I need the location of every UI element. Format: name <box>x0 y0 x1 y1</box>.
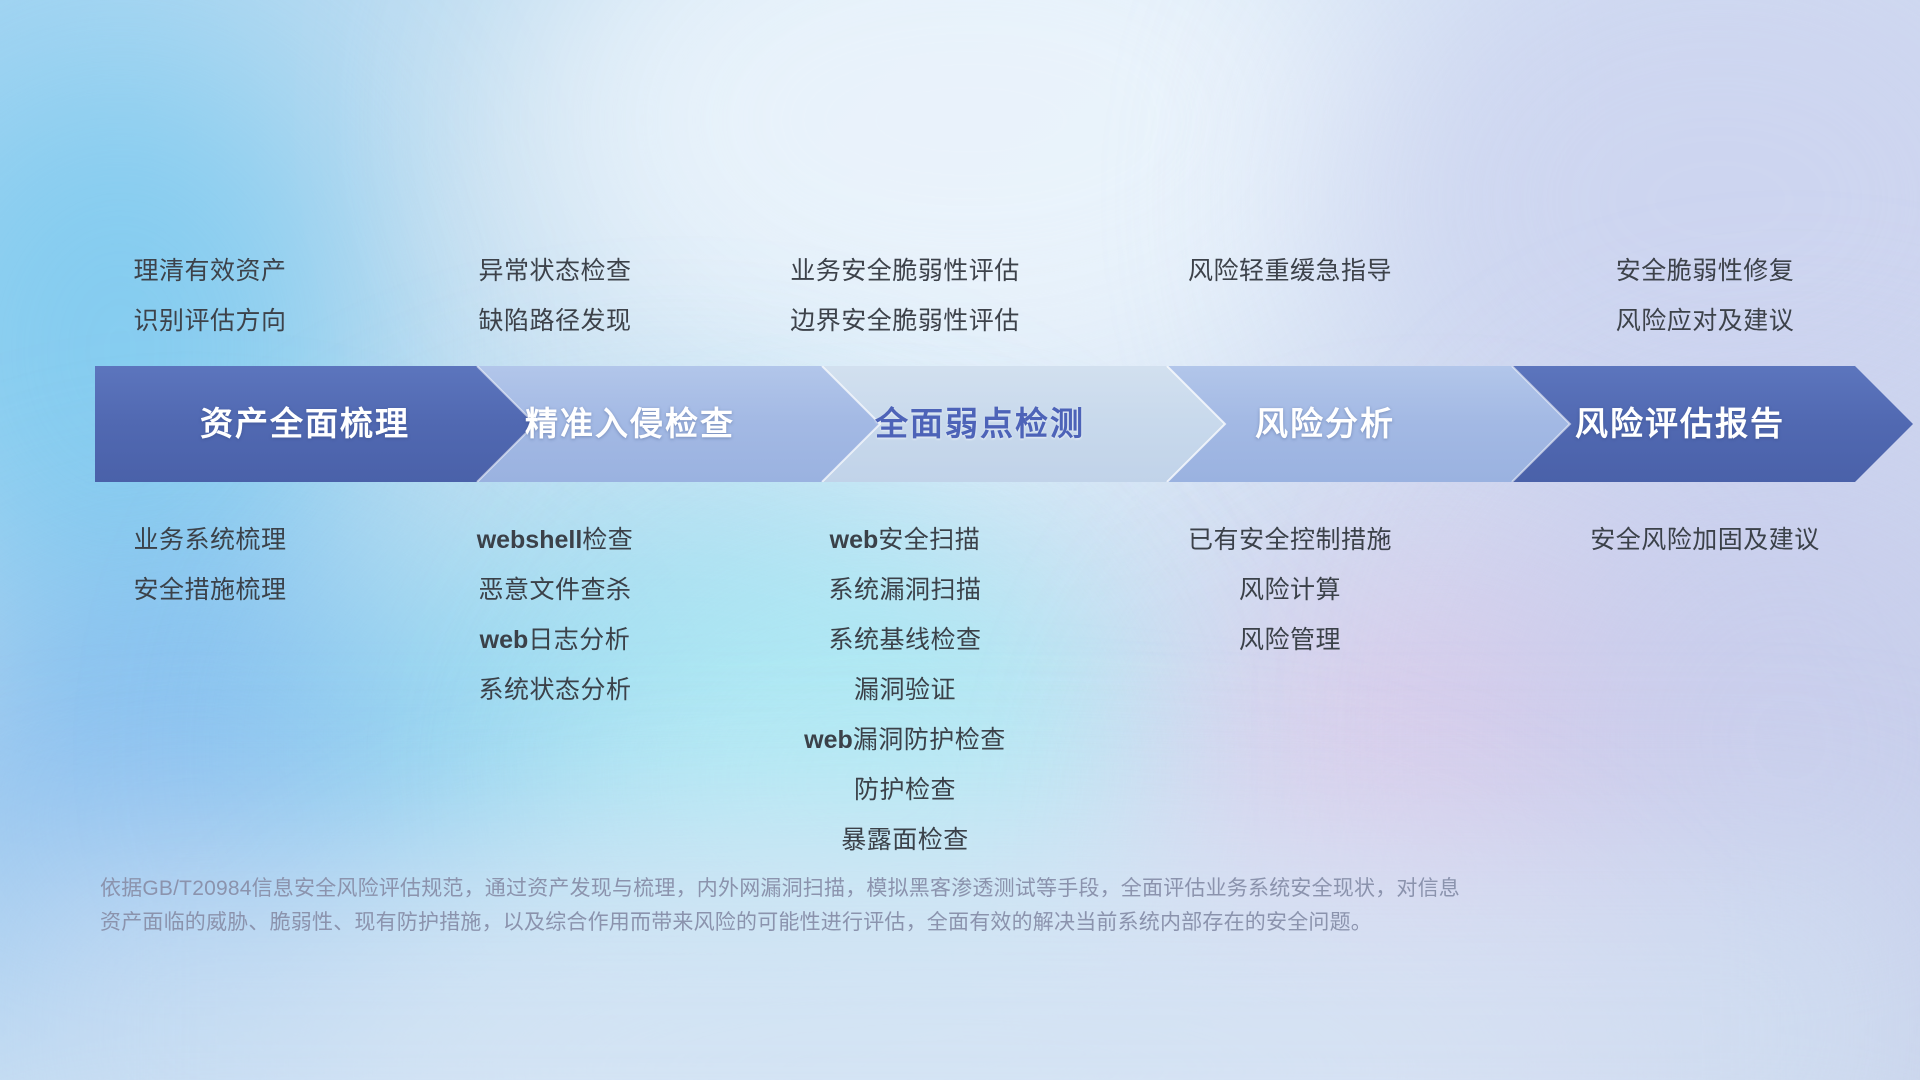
stage-4-bottom-note: 已有安全控制措施 <box>1070 515 1510 565</box>
stage-2-bottom-notes: webshell检查 恶意文件查杀 web日志分析 系统状态分析 <box>370 515 740 715</box>
stage-1-bottom-note: 安全措施梳理 <box>0 565 420 615</box>
footer-description: 依据GB/T20984信息安全风险评估规范，通过资产发现与梳理，内外网漏洞扫描，… <box>100 872 1720 940</box>
stage-3-bottom-note: 漏洞验证 <box>715 665 1095 715</box>
stage-3-top-notes: 业务安全脆弱性评估 边界安全脆弱性评估 <box>715 246 1095 346</box>
stage-4-bottom-note: 风险计算 <box>1070 565 1510 615</box>
stage-2-bottom-note: 系统状态分析 <box>370 665 740 715</box>
stage-2-bottom-note-latin: web <box>480 626 529 654</box>
arrow-stage-1 <box>95 366 535 482</box>
stage-3-bottom-note: web安全扫描 <box>715 515 1095 565</box>
stage-4-bottom-note: 风险管理 <box>1070 615 1510 665</box>
stage-4-top-note: 风险轻重缓急指导 <box>1070 246 1510 296</box>
process-arrow-band <box>0 366 1920 482</box>
stage-2-bottom-note: webshell检查 <box>370 515 740 565</box>
stage-3-bottom-note: 暴露面检查 <box>715 815 1095 865</box>
process-diagram: 理清有效资产 识别评估方向 异常状态检查 缺陷路径发现 业务安全脆弱性评估 边界… <box>0 0 1920 1080</box>
stage-2-bottom-note: web日志分析 <box>370 615 740 665</box>
stage-2-top-notes: 异常状态检查 缺陷路径发现 <box>370 246 740 346</box>
stage-2-bottom-note-cjk: 日志分析 <box>528 626 630 654</box>
stage-2-top-note: 缺陷路径发现 <box>370 296 740 346</box>
stage-3-bottom-note-latin: web <box>830 526 879 554</box>
stage-3-top-note: 业务安全脆弱性评估 <box>715 246 1095 296</box>
stage-3-bottom-note-latin: web <box>804 726 853 754</box>
stage-2-bottom-note: 恶意文件查杀 <box>370 565 740 615</box>
stage-3-bottom-note: web漏洞防护检查 <box>715 715 1095 765</box>
stage-1-top-note: 识别评估方向 <box>0 296 420 346</box>
stage-3-bottom-note-cjk: 漏洞防护检查 <box>853 726 1006 754</box>
stage-1-bottom-note: 业务系统梳理 <box>0 515 420 565</box>
stage-5-bottom-notes: 安全风险加固及建议 <box>1490 515 1920 565</box>
stage-2-bottom-note-cjk: 检查 <box>582 526 633 554</box>
stage-1-top-note: 理清有效资产 <box>0 246 420 296</box>
stage-5-top-notes: 安全脆弱性修复 风险应对及建议 <box>1490 246 1920 346</box>
stage-1-top-notes: 理清有效资产 识别评估方向 <box>0 246 420 346</box>
stage-3-bottom-note-cjk: 安全扫描 <box>878 526 980 554</box>
stage-1-bottom-notes: 业务系统梳理 安全措施梳理 <box>0 515 420 615</box>
stage-5-bottom-note: 安全风险加固及建议 <box>1490 515 1920 565</box>
stage-5-top-note: 安全脆弱性修复 <box>1490 246 1920 296</box>
stage-5-top-note: 风险应对及建议 <box>1490 296 1920 346</box>
footer-line-2: 资产面临的威胁、脆弱性、现有防护措施，以及综合作用而带来风险的可能性进行评估，全… <box>100 906 1720 940</box>
stage-3-bottom-note: 防护检查 <box>715 765 1095 815</box>
stage-2-top-note: 异常状态检查 <box>370 246 740 296</box>
stage-3-bottom-note: 系统基线检查 <box>715 615 1095 665</box>
footer-line-1: 依据GB/T20984信息安全风险评估规范，通过资产发现与梳理，内外网漏洞扫描，… <box>100 872 1720 906</box>
stage-4-bottom-notes: 已有安全控制措施 风险计算 风险管理 <box>1070 515 1510 665</box>
stage-2-bottom-note-latin: webshell <box>477 526 583 554</box>
stage-3-top-note: 边界安全脆弱性评估 <box>715 296 1095 346</box>
stage-3-bottom-note: 系统漏洞扫描 <box>715 565 1095 615</box>
stage-3-bottom-notes: web安全扫描 系统漏洞扫描 系统基线检查 漏洞验证 web漏洞防护检查 防护检… <box>715 515 1095 865</box>
stage-4-top-notes: 风险轻重缓急指导 <box>1070 246 1510 296</box>
